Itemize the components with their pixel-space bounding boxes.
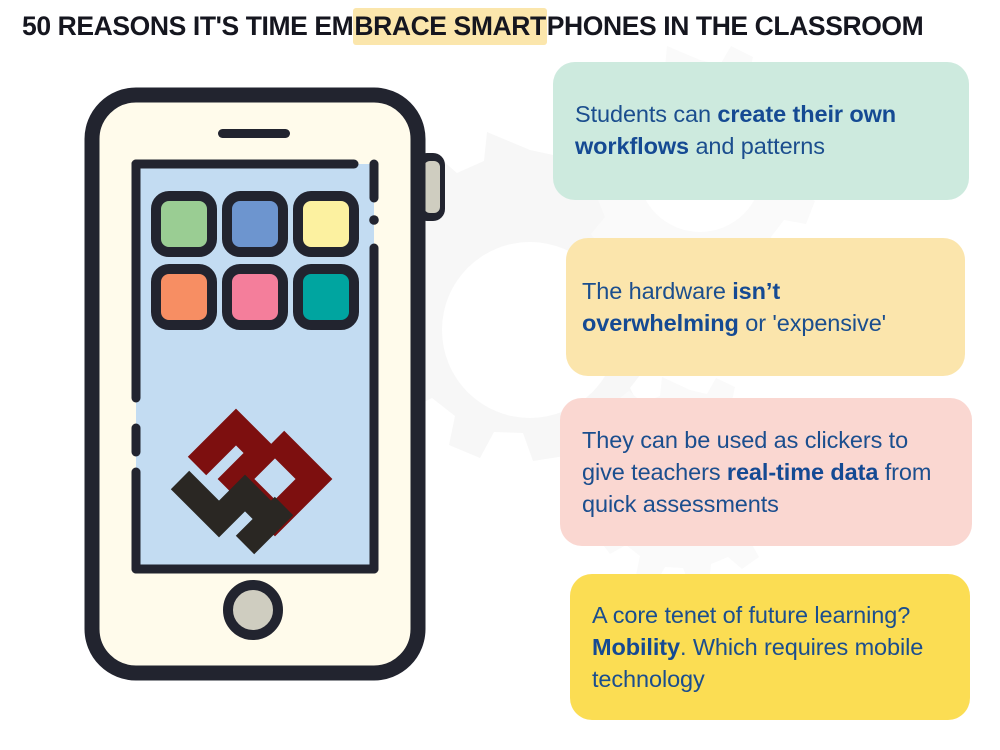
phone-home-button (228, 585, 278, 635)
reason-card-clickers-text: They can be used as clickers to give tea… (582, 424, 950, 520)
reason-card-clickers[interactable]: They can be used as clickers to give tea… (560, 398, 972, 546)
reason-card-hardware[interactable]: The hardware isn’t overwhelming or 'expe… (566, 238, 965, 376)
page-title-highlight: BRACE SMART (353, 8, 546, 45)
page-title: 50 REASONS IT'S TIME EMBRACE SMARTPHONES… (22, 6, 982, 46)
reason-card-workflows[interactable]: Students can create their own workflows … (553, 62, 969, 200)
page-title-part-before: 50 REASONS IT'S TIME EM (22, 11, 353, 41)
reason-card-mobility-text: A core tenet of future learning? Mobilit… (592, 599, 950, 695)
page-title-part-after: PHONES IN THE CLASSROOM (547, 11, 924, 41)
slide-canvas: 50 REASONS IT'S TIME EMBRACE SMARTPHONES… (0, 0, 1000, 750)
reason-card-workflows-text: Students can create their own workflows … (575, 98, 943, 162)
app-icon-green (156, 196, 212, 252)
app-icon-yellow (298, 196, 354, 252)
app-icon-orange (156, 269, 212, 325)
smartphone-illustration (60, 80, 480, 700)
reason-card-mobility[interactable]: A core tenet of future learning? Mobilit… (570, 574, 970, 720)
phone-speaker-grille (218, 129, 290, 138)
reason-card-hardware-text: The hardware isn’t overwhelming or 'expe… (582, 275, 939, 339)
app-icon-blue (227, 196, 283, 252)
app-icon-pink (227, 269, 283, 325)
app-icon-teal (298, 269, 354, 325)
